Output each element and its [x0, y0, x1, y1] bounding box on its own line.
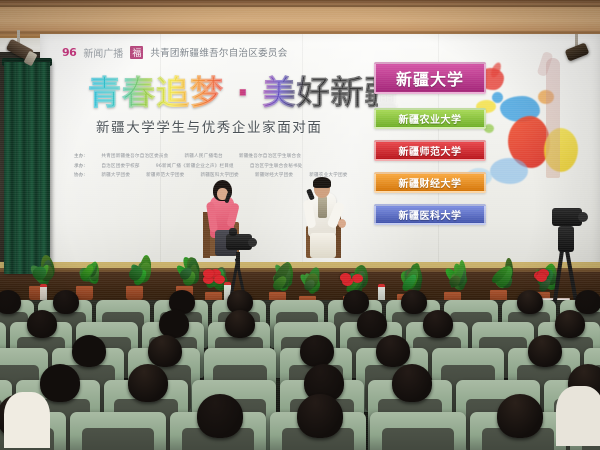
banner-organizer-line: 共青团新疆维吾尔自治区委员会	[150, 45, 287, 59]
university-plaque-0: 新疆大学	[374, 62, 486, 94]
camera-viewfinder-center	[229, 228, 237, 236]
audience-member-head	[297, 394, 343, 438]
camera-lens-right	[578, 212, 588, 222]
audience-member-head	[401, 290, 427, 314]
credits-label: 承办:	[74, 162, 85, 172]
potted-plant-0	[14, 252, 60, 302]
credits-entry: 自治区学生联合会秘书处	[250, 162, 303, 172]
credits-label: 协办:	[74, 171, 85, 181]
audience-member-head	[40, 364, 80, 402]
audience-member-head	[0, 290, 21, 314]
credits-entry: 新疆医科大学团委	[200, 171, 238, 181]
audience-member-head	[148, 335, 182, 367]
credits-entry: 新疆师范大学团委	[146, 171, 184, 181]
seat-cushion	[382, 428, 455, 450]
audience-member-head	[197, 394, 243, 438]
credits-row: 主办:共青团新疆维吾尔自治区委员会新疆人民广播电台新疆维吾尔自治区学生联合会	[74, 152, 374, 162]
station-logo-label: 新闻广播	[83, 45, 123, 60]
banner-title: 青春追梦 · 美好新疆	[88, 72, 378, 114]
credits-row: 承办:自治区团委学校部96新闻广播《新疆企业之声》栏目组自治区学生联合会秘书处	[74, 162, 374, 172]
tripod-column	[236, 252, 240, 268]
audience-member-head	[555, 310, 585, 338]
credits-entry: 新疆维吾尔自治区学生联合会	[239, 152, 301, 162]
credits-entry: 新疆大学团委	[101, 171, 130, 181]
audience-member-head	[528, 335, 562, 367]
audience-member-head	[357, 310, 387, 338]
splash-lightblue-1	[490, 158, 528, 184]
audience-member-head	[27, 310, 57, 338]
audience-member-head	[517, 290, 543, 314]
audience-member-head	[392, 364, 432, 402]
audience-member-shoulders	[556, 386, 600, 446]
seat-cushion	[82, 428, 155, 450]
stage-curtain	[4, 62, 50, 274]
guest-legs	[310, 233, 336, 258]
guest-shirt-pattern	[318, 196, 327, 218]
university-plaque-2: 新疆师范大学	[374, 140, 486, 161]
camera-head-right	[558, 226, 574, 252]
banner-silhouette-figure	[546, 58, 560, 178]
guest-hand-gesture	[338, 219, 346, 228]
potted-plant-8	[476, 254, 520, 306]
audience-member-head	[376, 335, 410, 367]
audience-member-head	[53, 290, 79, 314]
audience-member-head	[575, 290, 600, 314]
camera-lens-center	[248, 238, 257, 247]
station-badge: 福	[130, 46, 143, 59]
audience-member-head	[128, 364, 168, 402]
audience-member-shoulders	[4, 392, 50, 448]
red-flower	[536, 273, 547, 282]
audience-member-head	[72, 335, 106, 367]
ceiling-seam	[0, 5, 600, 7]
university-plaque-1: 新疆农业大学	[374, 108, 486, 129]
red-flower	[203, 269, 214, 278]
credits-entry: 自治区团委学校部	[101, 162, 139, 172]
guest-hair	[313, 177, 331, 188]
university-plaque-list: 新疆大学新疆农业大学新疆师范大学新疆财经大学新疆医科大学	[374, 62, 486, 236]
audience-member-head	[300, 335, 334, 367]
credits-entry: 新疆人民广播电台	[184, 152, 222, 162]
banner-subtitle: 新疆大学学生与优秀企业家面对面	[96, 116, 361, 136]
university-plaque-3: 新疆财经大学	[374, 172, 486, 193]
credits-entry: 新疆财经大学团委	[255, 171, 293, 181]
flower-pot	[126, 286, 143, 300]
credits-label: 主办:	[74, 152, 85, 162]
banner-credits: 主办:共青团新疆维吾尔自治区委员会新疆人民广播电台新疆维吾尔自治区学生联合会承办…	[74, 152, 374, 181]
audience-seat	[370, 412, 466, 450]
university-plaque-4: 新疆医科大学	[374, 204, 486, 225]
credits-entry: 共青团新疆维吾尔自治区委员会	[101, 152, 168, 162]
station-logo: 96	[62, 46, 76, 59]
stage-photograph: 96 新闻广播 福 共青团新疆维吾尔自治区委员会 青春追梦 · 美好新疆 新疆大…	[0, 0, 600, 450]
potted-plant-2	[108, 246, 160, 302]
audience-member-head	[497, 394, 543, 438]
ceiling-soffit	[0, 0, 600, 38]
banner-header-row: 96 新闻广播 福 共青团新疆维吾尔自治区委员会	[62, 44, 372, 60]
credits-entry: 96新闻广播《新疆企业之声》栏目组	[156, 162, 234, 172]
audience-member-head	[225, 310, 255, 338]
audience-seat	[70, 412, 166, 450]
audience-member-head	[423, 310, 453, 338]
